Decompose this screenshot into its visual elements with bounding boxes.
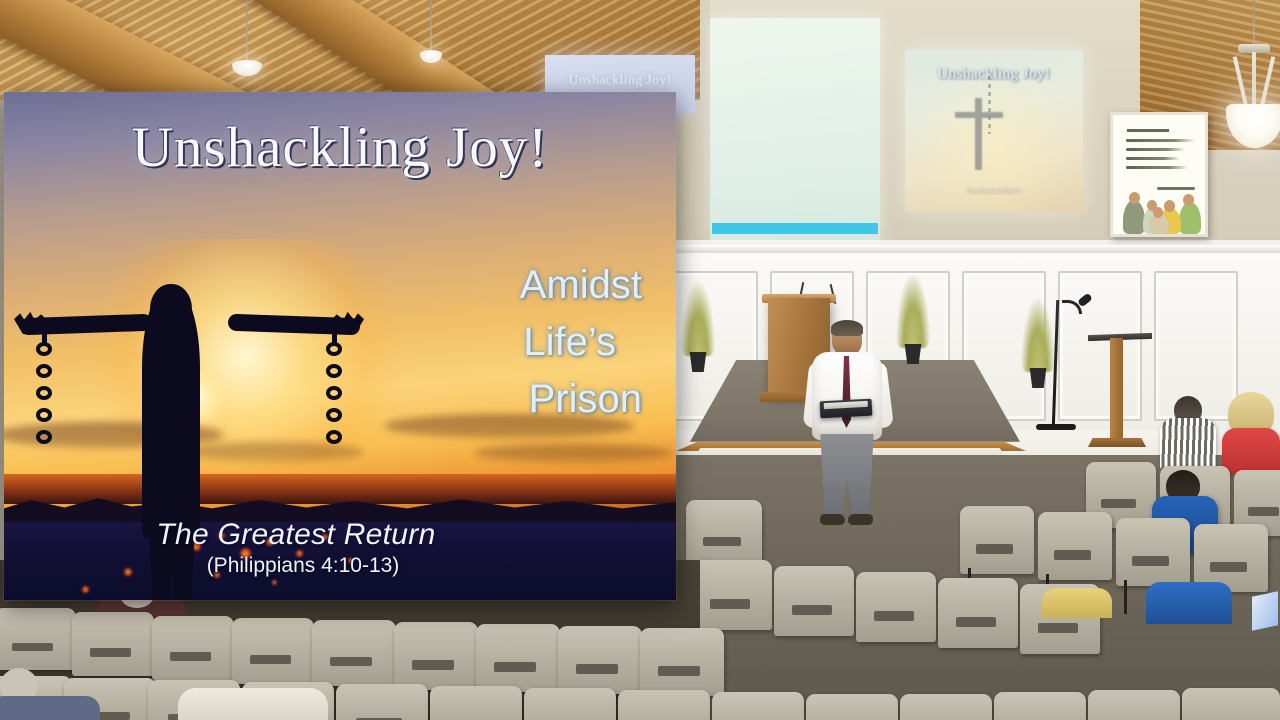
pendant-cord [1253,0,1255,46]
plant-fronds [1021,298,1055,372]
attendee-grey-top [0,696,100,720]
sanctuary-chair [686,500,762,566]
preacher-hair [831,320,863,336]
preacher-shoe [820,514,845,525]
sanctuary-chair [232,618,314,684]
attendee-blue-shirt [1146,582,1232,624]
livestream-frame: Unshackling Joy! Unshackling Joy! The Gr… [0,0,1280,720]
sanctuary-chair [558,626,642,694]
sanctuary-chair [1088,690,1180,720]
attendee-red-top [1222,428,1280,474]
attendee-striped-shirt [1160,418,1216,470]
preacher-trousers [818,434,876,518]
broken-chain-left [36,332,52,452]
sanctuary-chair [640,628,724,696]
preacher-shoe [848,514,873,525]
poster-body-text [1126,139,1195,175]
slide-subtitle: Amidst Life’s Prison [342,257,642,427]
sanctuary-chair [524,688,616,720]
projection-chain [988,76,991,134]
projection-screen-center [710,18,880,240]
sanctuary-chair [72,612,154,676]
sanctuary-chair [152,616,234,680]
projection-screen-right-title: Unshackling Joy! [905,66,1083,83]
slide-sermon-title: The Greatest Return [4,518,676,552]
projection-screen-right: Unshackling Joy! The Greatest Return [905,50,1083,212]
sanctuary-chair [430,686,522,720]
lectern-post [1110,338,1123,442]
sermon-slide-overlay: Unshackling Joy! Amidst Life’s Prison Th… [4,92,676,600]
pendant-cord [430,0,432,52]
sanctuary-chair [806,694,898,720]
potted-plant [678,280,718,372]
preacher [802,322,892,536]
plant-fronds [681,282,715,356]
sanctuary-chair [774,566,854,636]
sanctuary-chair [1116,518,1190,586]
attendee-light-top [178,688,328,720]
slide-subtitle-line-2: Life’s [342,314,642,371]
potted-plant [1018,300,1058,388]
attendee-light-top [1042,588,1112,618]
pendant-cord [246,0,248,62]
sanctuary-chair [0,608,76,670]
sanctuary-chair [938,578,1018,648]
slide-title: Unshackling Joy! [4,118,676,178]
sanctuary-chair [1182,688,1280,720]
poster-heading [1127,129,1169,132]
projection-screen-accent-band [712,223,878,234]
plant-pot [1027,368,1049,388]
sanctuary-chair [1038,512,1112,580]
screen-glow [1252,591,1278,631]
sanctuary-chair [476,624,560,692]
sanctuary-chair [900,694,992,720]
sanctuary-chair [312,620,396,686]
mission-statement-poster [1110,112,1208,237]
sanctuary-chair [960,506,1034,574]
chair-leg [1124,580,1127,614]
sanctuary-chair [692,560,772,630]
slide-footer: The Greatest Return (Philippians 4:10-13… [4,518,676,578]
projection-silhouette-figure [953,92,1005,170]
slide-cloud [474,444,674,462]
lectern-base [1088,438,1146,447]
potted-plant [893,272,933,364]
microphone-stand-base [1036,424,1076,430]
slide-scripture-reference: (Philippians 4:10-13) [4,554,676,578]
open-bible [820,399,873,419]
sanctuary-chair [712,692,804,720]
chair-rail [660,245,1280,253]
slide-subtitle-line-3: Prison [342,371,642,428]
plant-fronds [896,274,930,348]
slide-subtitle-line-1: Amidst [342,257,642,314]
poster-family-illustration [1121,188,1205,234]
plant-pot [687,352,709,372]
projection-screen-right-footer: The Greatest Return [905,188,1083,196]
pendant-arms [1236,52,1272,112]
sanctuary-chair [394,622,478,690]
projection-screen-far-title: Unshackling Joy! [545,73,695,89]
sanctuary-chair [336,684,428,720]
sanctuary-chair [618,690,710,720]
plant-pot [902,344,924,364]
sanctuary-chair [856,572,936,642]
sanctuary-chair [994,692,1086,720]
broken-chain-right [326,332,342,460]
